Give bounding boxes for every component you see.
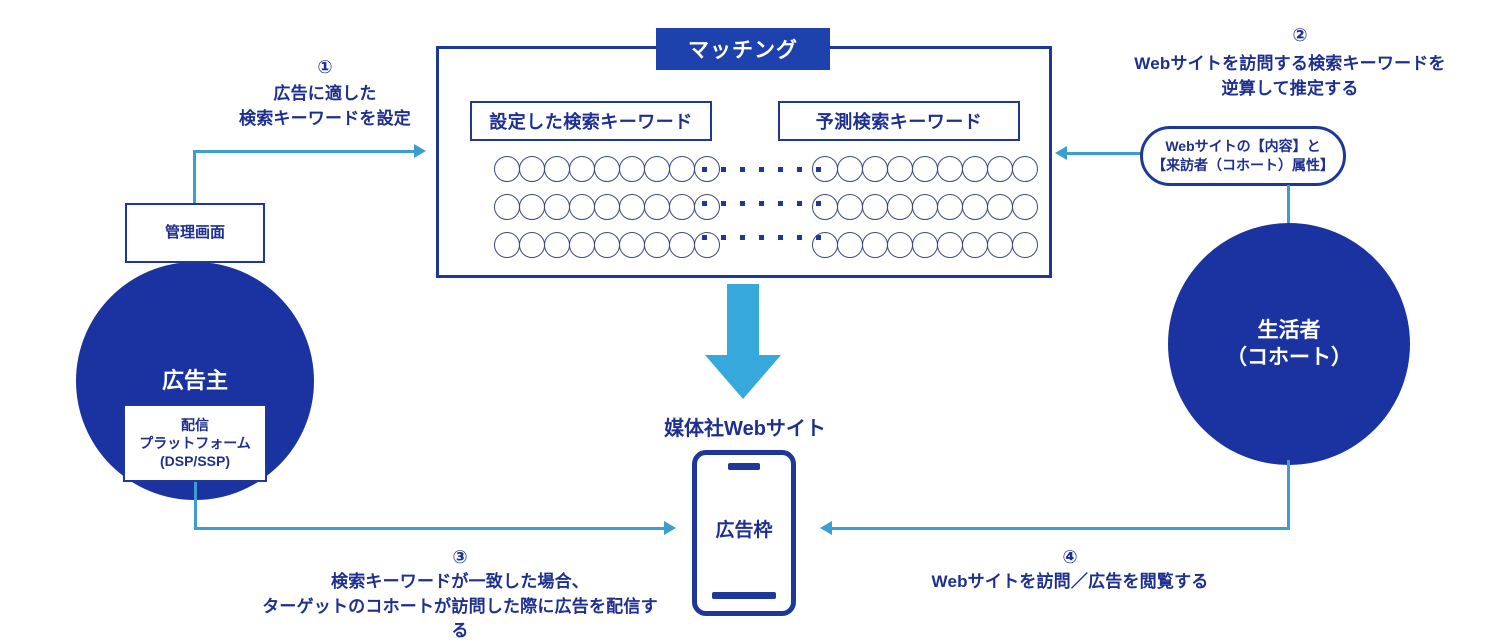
keyword-circle-icon <box>644 156 670 182</box>
step-1-caption-line1: 広告に適した <box>205 82 445 107</box>
ellipsis-dot-icon <box>740 235 745 240</box>
step-4-number: ④ <box>920 548 1220 566</box>
keyword-circle-icon <box>937 156 963 182</box>
step-2-connector-horizontal <box>1066 152 1144 155</box>
keyword-circle-icon <box>837 156 863 182</box>
keyword-circle-icon <box>519 156 545 182</box>
keyword-circle-icon <box>1012 194 1038 220</box>
keyword-circle-icon <box>862 194 888 220</box>
keyword-circle-icon <box>912 156 938 182</box>
ellipsis-dot-icon <box>721 201 726 206</box>
matching-to-site-arrow-shaft <box>727 284 759 358</box>
keyword-circle-row <box>812 156 1037 182</box>
pill-line1: Webサイトの【内容】と <box>1152 137 1334 156</box>
keyword-circle-icon <box>569 156 595 182</box>
keyword-circle-icon <box>594 232 620 258</box>
keyword-circle-icon <box>669 232 695 258</box>
keyword-circle-icon <box>669 156 695 182</box>
delivery-platform-box: 配信 プラットフォーム (DSP/SSP) <box>123 404 267 482</box>
keyword-circle-icon <box>837 232 863 258</box>
ellipsis-dot-icon <box>721 167 726 172</box>
step-2-number: ② <box>1150 26 1450 44</box>
keyword-circle-icon <box>519 232 545 258</box>
keyword-circle-icon <box>494 194 520 220</box>
step-4-arrowhead-icon <box>820 521 832 535</box>
keyword-circle-icon <box>494 156 520 182</box>
matching-title-banner: マッチング <box>656 28 830 70</box>
keyword-circle-icon <box>962 232 988 258</box>
keyword-circle-icon <box>669 194 695 220</box>
keyword-circle-icon <box>519 194 545 220</box>
ellipsis-dot-icon <box>721 235 726 240</box>
ellipsis-dot-row <box>702 167 821 172</box>
diagram-canvas: ① 広告に適した 検索キーワードを設定 マッチング 設定した検索キーワード 予測… <box>0 0 1487 643</box>
step-1-caption-line2: 検索キーワードを設定 <box>205 107 445 132</box>
ellipsis-dot-row <box>702 235 821 240</box>
phone-home-bar-icon <box>712 592 776 599</box>
keyword-circle-icon <box>987 232 1013 258</box>
keyword-circle-icon <box>937 232 963 258</box>
keyword-circle-icon <box>644 232 670 258</box>
media-site-label: 媒体社Webサイト <box>600 412 890 441</box>
step-3-connector-vertical <box>194 482 197 530</box>
configured-keyword-circles <box>494 156 719 258</box>
ellipsis-dot-icon <box>702 167 707 172</box>
keyword-circle-icon <box>962 194 988 220</box>
keyword-circle-icon <box>887 232 913 258</box>
ad-slot-label: 広告枠 <box>692 515 796 542</box>
ellipsis-dot-row <box>702 201 821 206</box>
keyword-circle-icon <box>619 194 645 220</box>
predicted-keyword-circles <box>812 156 1037 258</box>
keyword-circle-row <box>812 232 1037 258</box>
ellipsis-dot-icon <box>778 167 783 172</box>
keyword-circle-icon <box>812 156 838 182</box>
ellipsis-dot-icon <box>797 235 802 240</box>
dsp-box-line3: (DSP/SSP) <box>139 452 251 470</box>
keyword-circle-icon <box>987 194 1013 220</box>
step-3-arrowhead-icon <box>664 521 676 535</box>
keyword-circle-icon <box>887 194 913 220</box>
keyword-circle-row <box>494 232 719 258</box>
consumer-label-line2: （コホート） <box>1226 344 1352 371</box>
keyword-circle-icon <box>619 156 645 182</box>
keyword-circle-icon <box>544 194 570 220</box>
step-3-number: ③ <box>290 548 630 566</box>
ellipsis-dot-icon <box>778 201 783 206</box>
phone-speaker-icon <box>728 463 760 470</box>
ellipsis-dot-icon <box>702 201 707 206</box>
keyword-circle-icon <box>494 232 520 258</box>
keyword-circle-icon <box>862 232 888 258</box>
step-1-arrowhead-icon <box>414 144 426 158</box>
ellipsis-dot-icon <box>778 235 783 240</box>
admin-screen-box: 管理画面 <box>125 203 265 263</box>
pill-line2: 【来訪者（コホート）属性】 <box>1152 156 1334 175</box>
keyword-circle-icon <box>644 194 670 220</box>
consumer-label-line1: 生活者 <box>1226 317 1352 344</box>
dsp-box-line1: 配信 <box>139 416 251 434</box>
ellipsis-dot-icon <box>797 167 802 172</box>
step-3-connector-horizontal <box>194 527 667 530</box>
keyword-circle-icon <box>912 232 938 258</box>
website-attributes-pill: Webサイトの【内容】と 【来訪者（コホート）属性】 <box>1140 126 1346 186</box>
matching-to-site-arrow-icon <box>705 355 781 399</box>
step-4-connector-vertical <box>1287 460 1290 530</box>
keyword-circle-icon <box>812 194 838 220</box>
ellipsis-dot-rows <box>702 156 821 240</box>
keyword-circle-icon <box>569 232 595 258</box>
step-2-caption-line1: Webサイトを訪問する検索キーワードを <box>1080 52 1487 77</box>
dsp-box-line2: プラットフォーム <box>139 434 251 452</box>
keyword-circle-icon <box>887 156 913 182</box>
step-1-connector-horizontal <box>193 150 415 153</box>
keyword-circle-icon <box>544 232 570 258</box>
keyword-circle-icon <box>862 156 888 182</box>
step-1-caption: 広告に適した 検索キーワードを設定 <box>205 82 445 131</box>
keyword-circle-icon <box>619 232 645 258</box>
keyword-circle-icon <box>812 232 838 258</box>
step-3-caption-line1: 検索キーワードが一致した場合、 <box>260 570 660 595</box>
step-1-number: ① <box>235 58 415 76</box>
ellipsis-dot-icon <box>702 235 707 240</box>
keyword-column-header-predicted: 予測検索キーワード <box>778 101 1020 141</box>
step-2-caption: Webサイトを訪問する検索キーワードを 逆算して推定する <box>1080 52 1487 101</box>
keyword-circle-icon <box>987 156 1013 182</box>
keyword-circle-row <box>494 156 719 182</box>
step-1-connector-vertical <box>193 150 196 206</box>
step-4-connector-horizontal <box>832 527 1290 530</box>
step-4-caption: Webサイトを訪問／広告を閲覧する <box>900 570 1240 595</box>
keyword-circle-row <box>494 194 719 220</box>
keyword-circle-row <box>812 194 1037 220</box>
keyword-circle-icon <box>594 156 620 182</box>
keyword-circle-icon <box>837 194 863 220</box>
ellipsis-dot-icon <box>740 167 745 172</box>
ellipsis-dot-icon <box>759 201 764 206</box>
keyword-circle-icon <box>569 194 595 220</box>
consumer-cohort-circle: 生活者 （コホート） <box>1168 223 1410 465</box>
keyword-circle-icon <box>1012 156 1038 182</box>
step-3-caption: 検索キーワードが一致した場合、 ターゲットのコホートが訪問した際に広告を配信する <box>260 570 660 643</box>
step-2-arrowhead-icon <box>1055 146 1067 160</box>
keyword-circle-icon <box>544 156 570 182</box>
ellipsis-dot-icon <box>740 201 745 206</box>
keyword-column-header-configured: 設定した検索キーワード <box>470 101 712 141</box>
keyword-circle-icon <box>1012 232 1038 258</box>
step-2-caption-line2: 逆算して推定する <box>1080 77 1487 102</box>
keyword-circle-icon <box>962 156 988 182</box>
keyword-circle-icon <box>594 194 620 220</box>
step-3-caption-line2: ターゲットのコホートが訪問した際に広告を配信する <box>260 595 660 643</box>
keyword-circle-icon <box>937 194 963 220</box>
keyword-circle-icon <box>912 194 938 220</box>
ellipsis-dot-icon <box>759 167 764 172</box>
ellipsis-dot-icon <box>759 235 764 240</box>
ellipsis-dot-icon <box>797 201 802 206</box>
step-4-caption-line1: Webサイトを訪問／広告を閲覧する <box>900 570 1240 595</box>
